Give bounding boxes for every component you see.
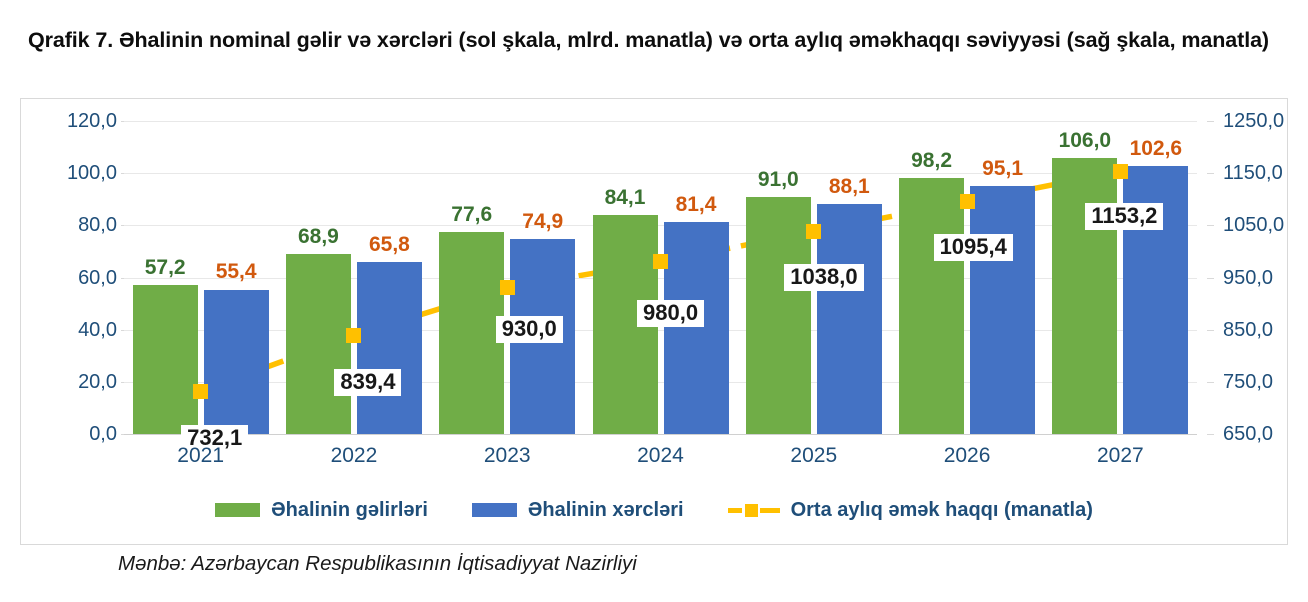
value-label-expense-2027: 102,6 [1111, 138, 1200, 159]
left-axis-tick-label: 60,0 [78, 268, 117, 288]
bar-expense-2025[interactable] [817, 204, 882, 434]
right-axis-tick-mark [1207, 121, 1214, 122]
right-axis-tick-mark [1207, 434, 1214, 435]
x-axis-tick-label: 2026 [890, 445, 1043, 466]
x-axis: 2021202220232024202520262027 [124, 439, 1197, 473]
line-marker-2021[interactable] [193, 384, 208, 399]
left-axis-tick-label: 80,0 [78, 215, 117, 235]
left-axis-tick-label: 40,0 [78, 320, 117, 340]
legend-line-dash-right [760, 508, 780, 513]
plot-area: 57,255,468,965,877,674,984,181,491,088,1… [124, 121, 1197, 434]
value-label-wage-2024: 980,0 [637, 300, 704, 327]
line-marker-2026[interactable] [960, 194, 975, 209]
bar-income-2023[interactable] [439, 232, 504, 434]
bar-income-2025[interactable] [746, 197, 811, 434]
value-label-wage-2023: 930,0 [496, 316, 563, 343]
bar-income-2021[interactable] [133, 285, 198, 434]
right-axis-tick-label: 950,0 [1223, 268, 1273, 288]
right-axis-tick-label: 1250,0 [1223, 111, 1284, 131]
chart-legend: Əhalinin gəlirləriƏhalinin xərcləriOrta … [20, 490, 1288, 530]
legend-item-1[interactable]: Əhalinin xərcləri [472, 499, 684, 522]
line-marker-2023[interactable] [500, 280, 515, 295]
gridline [124, 121, 1197, 122]
legend-label: Əhalinin gəlirləri [271, 499, 428, 522]
x-axis-tick-label: 2025 [737, 445, 890, 466]
value-label-expense-2021: 55,4 [192, 261, 281, 282]
value-label-wage-2027: 1153,2 [1085, 203, 1163, 230]
bar-expense-2021[interactable] [204, 290, 269, 435]
bar-income-2026[interactable] [899, 178, 964, 434]
left-axis-tick-label: 120,0 [67, 111, 117, 131]
left-axis-tick-label: 0,0 [89, 424, 117, 444]
right-axis-tick-mark [1207, 225, 1214, 226]
right-axis-tick-label: 1150,0 [1223, 163, 1283, 183]
x-axis-tick-label: 2021 [124, 445, 277, 466]
x-axis-tick-label: 2023 [431, 445, 584, 466]
right-axis-tick-label: 750,0 [1223, 372, 1273, 392]
value-label-expense-2023: 74,9 [498, 211, 587, 232]
source-note: Mənbə: Azərbaycan Respublikasının İqtisa… [118, 552, 637, 576]
line-marker-2027[interactable] [1113, 164, 1128, 179]
bar-income-2027[interactable] [1052, 158, 1117, 434]
line-marker-2024[interactable] [653, 254, 668, 269]
line-marker-2025[interactable] [806, 224, 821, 239]
gridline [124, 434, 1197, 435]
line-marker-2022[interactable] [346, 328, 361, 343]
left-axis: 0,020,040,060,080,0100,0120,0 [37, 121, 117, 434]
legend-label: Əhalinin xərcləri [528, 499, 684, 522]
value-label-expense-2022: 65,8 [345, 234, 434, 255]
legend-swatch-expense-icon [472, 503, 517, 517]
x-axis-tick-label: 2022 [277, 445, 430, 466]
legend-item-0[interactable]: Əhalinin gəlirləri [215, 499, 428, 522]
value-label-expense-2024: 81,4 [652, 194, 741, 215]
right-axis-tick-mark [1207, 173, 1214, 174]
right-axis-tick-label: 1050,0 [1223, 215, 1284, 235]
left-axis-tick-label: 20,0 [78, 372, 117, 392]
legend-swatch-income-icon [215, 503, 260, 517]
right-axis-tick-mark [1207, 382, 1214, 383]
value-label-expense-2025: 88,1 [805, 176, 894, 197]
x-axis-tick-label: 2027 [1044, 445, 1197, 466]
legend-line-marker [745, 504, 758, 517]
value-label-wage-2026: 1095,4 [934, 234, 1013, 261]
value-label-wage-2025: 1038,0 [784, 264, 863, 291]
legend-swatch-line-icon [728, 502, 780, 518]
right-axis: 650,0750,0850,0950,01050,01150,01250,0 [1207, 121, 1297, 434]
x-axis-tick-label: 2024 [584, 445, 737, 466]
right-axis-tick-label: 850,0 [1223, 320, 1273, 340]
bar-income-2022[interactable] [286, 254, 351, 434]
right-axis-tick-mark [1207, 278, 1214, 279]
page-title: Qrafik 7. Əhalinin nominal gəlir və xərc… [28, 26, 1278, 54]
right-axis-tick-mark [1207, 330, 1214, 331]
legend-line-dash-left [728, 508, 742, 513]
bar-expense-2022[interactable] [357, 262, 422, 434]
chart-frame: 0,020,040,060,080,0100,0120,0 650,0750,0… [20, 98, 1288, 545]
right-axis-tick-label: 650,0 [1223, 424, 1273, 444]
bar-expense-2026[interactable] [970, 186, 1035, 434]
value-label-expense-2026: 95,1 [958, 158, 1047, 179]
legend-item-2[interactable]: Orta aylıq əmək haqqı (manatla) [728, 499, 1093, 522]
left-axis-tick-label: 100,0 [67, 163, 117, 183]
bar-expense-2024[interactable] [664, 222, 729, 434]
legend-label: Orta aylıq əmək haqqı (manatla) [791, 499, 1093, 522]
value-label-wage-2022: 839,4 [334, 369, 401, 396]
